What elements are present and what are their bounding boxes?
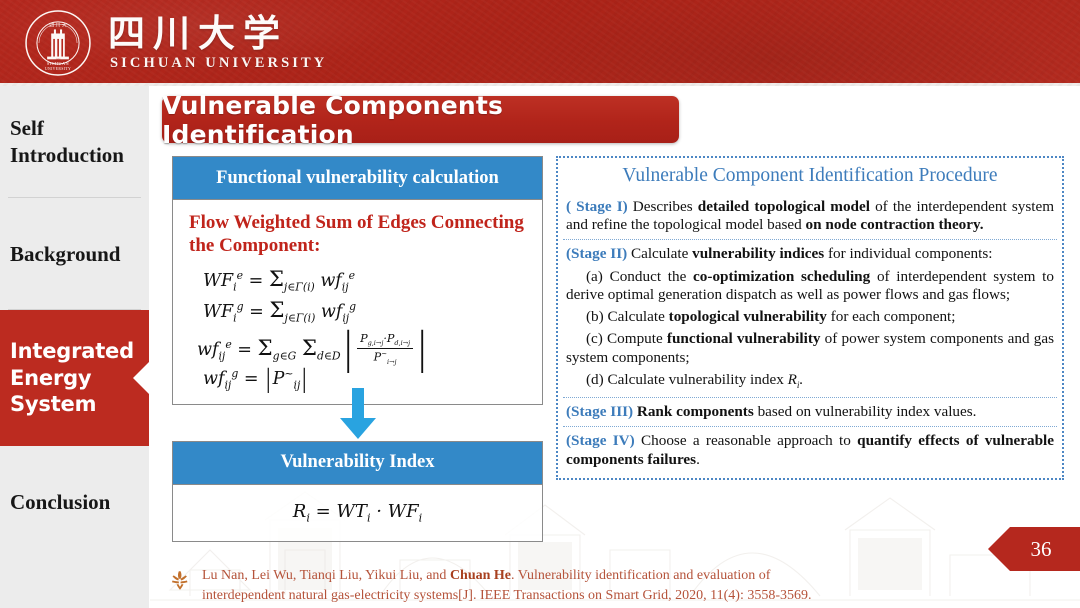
functional-vulnerability-card-body: Flow Weighted Sum of Edges Connecting th… bbox=[173, 200, 542, 404]
stage-2-text: Calculate vulnerability indices for indi… bbox=[631, 245, 993, 262]
stage-2-block: (Stage II) Calculate vulnerability indic… bbox=[563, 239, 1057, 397]
stage-4-tag: (Stage IV) bbox=[566, 432, 635, 449]
sidebar-item-label: Self Introduction bbox=[10, 115, 124, 169]
sidebar-item-label: Integrated Energy System bbox=[10, 338, 134, 419]
left-panel: Functional vulnerability calculation Flo… bbox=[172, 156, 543, 542]
equation-wf-electric: WFie = Σj∈Γ(i) wfije bbox=[203, 267, 532, 294]
functional-vulnerability-card: Functional vulnerability calculation Flo… bbox=[172, 156, 543, 405]
sichuan-university-mark-icon bbox=[167, 566, 193, 592]
university-name-chinese: 四川大学 bbox=[108, 12, 288, 56]
citation-journal-info: interdependent natural gas-electricity s… bbox=[202, 588, 812, 603]
sidebar-item-background[interactable]: Background bbox=[0, 198, 149, 310]
svg-text:SICHUAN: SICHUAN bbox=[47, 61, 70, 66]
citation-highlighted-author: Chuan He bbox=[450, 568, 511, 583]
stage-4-block: (Stage IV) Choose a reasonable approach … bbox=[563, 426, 1057, 473]
footer-citation: Lu Nan, Lei Wu, Tianqi Liu, Yikui Liu, a… bbox=[167, 566, 1047, 607]
card-header-label: Vulnerability Index bbox=[280, 452, 434, 473]
stage-2-item-d: (d) Calculate vulnerability index Ri. bbox=[566, 371, 1054, 392]
sidebar-item-conclusion[interactable]: Conclusion bbox=[0, 446, 149, 558]
stage-1-tag: ( Stage I) bbox=[566, 198, 628, 215]
stage-3-tag: (Stage III) bbox=[566, 403, 633, 420]
active-item-notch-icon bbox=[133, 361, 150, 395]
citation-authors-part1: Lu Nan, Lei Wu, Tianqi Liu, Yikui Liu, a… bbox=[202, 568, 450, 583]
stage-2-item-c: (c) Compute functional vulnerability of … bbox=[566, 330, 1054, 366]
stage-4-text: Choose a reasonable approach to quantify… bbox=[566, 432, 1054, 467]
stage-1-block: ( Stage I) Describes detailed topologica… bbox=[563, 193, 1057, 239]
procedure-panel: Vulnerable Component Identification Proc… bbox=[556, 156, 1064, 480]
sidebar-nav: Self Introduction Background Integrated … bbox=[0, 86, 149, 608]
stage-1-text: Describes detailed topological model of … bbox=[566, 198, 1054, 233]
page-number-badge: 36 bbox=[988, 527, 1080, 571]
sidebar-item-label: Background bbox=[10, 241, 121, 268]
slide-title-banner: Vulnerable Components Identification bbox=[162, 96, 679, 143]
vulnerability-index-card-body: Ri = WTi · WFi bbox=[173, 485, 542, 542]
flow-weighted-sum-heading: Flow Weighted Sum of Edges Connecting th… bbox=[189, 211, 532, 258]
citation-title-part1: . Vulnerability identification and evalu… bbox=[511, 568, 770, 583]
vulnerability-index-card-header: Vulnerability Index bbox=[173, 442, 542, 485]
footer-citation-text: Lu Nan, Lei Wu, Tianqi Liu, Yikui Liu, a… bbox=[202, 566, 812, 607]
sidebar-item-self-introduction[interactable]: Self Introduction bbox=[0, 86, 149, 198]
procedure-title: Vulnerable Component Identification Proc… bbox=[563, 162, 1057, 193]
flow-weighted-sum-heading-text: Flow Weighted Sum of Edges Connecting th… bbox=[189, 212, 524, 256]
stage-3-text: Rank components based on vulnerability i… bbox=[637, 403, 977, 420]
svg-text:UNIVERSITY: UNIVERSITY bbox=[45, 67, 71, 71]
equation-wf-gas: WFig = Σj∈Γ(i) wfijg bbox=[203, 298, 532, 325]
card-header-label: Functional vulnerability calculation bbox=[216, 168, 499, 189]
stage-2-item-b: (b) Calculate topological vulnerability … bbox=[566, 308, 1054, 326]
svg-text:1896: 1896 bbox=[56, 58, 62, 61]
sidebar-item-integrated-energy-system[interactable]: Integrated Energy System bbox=[0, 310, 149, 446]
header-bottom-strip bbox=[0, 83, 1080, 86]
page-number: 36 bbox=[1017, 537, 1052, 562]
sidebar-item-label: Conclusion bbox=[10, 489, 110, 516]
equation-wf-edge-electric: wfije = Σg∈G Σd∈D | Pg,i→j·Pd,i→j P~i→j … bbox=[197, 332, 532, 366]
functional-vulnerability-card-header: Functional vulnerability calculation bbox=[173, 157, 542, 200]
slide-header-banner: 四 川 大 SICHUAN UNIVERSITY 1896 四川大学 SICHU… bbox=[0, 0, 1080, 86]
equation-vulnerability-index: Ri = WTi · WFi bbox=[293, 501, 423, 525]
stage-3-block: (Stage III) Rank components based on vul… bbox=[563, 397, 1057, 426]
arrow-down-icon bbox=[339, 388, 377, 440]
sichuan-university-seal: 四 川 大 SICHUAN UNIVERSITY 1896 bbox=[24, 9, 92, 77]
university-name-english: SICHUAN UNIVERSITY bbox=[110, 55, 327, 72]
stage-2-item-a: (a) Conduct the co-optimization scheduli… bbox=[566, 268, 1054, 304]
flow-arrow-container bbox=[172, 405, 543, 441]
page-title: Vulnerable Components Identification bbox=[162, 91, 679, 149]
vulnerability-index-card: Vulnerability Index Ri = WTi · WFi bbox=[172, 441, 543, 543]
stage-2-tag: (Stage II) bbox=[566, 245, 627, 262]
